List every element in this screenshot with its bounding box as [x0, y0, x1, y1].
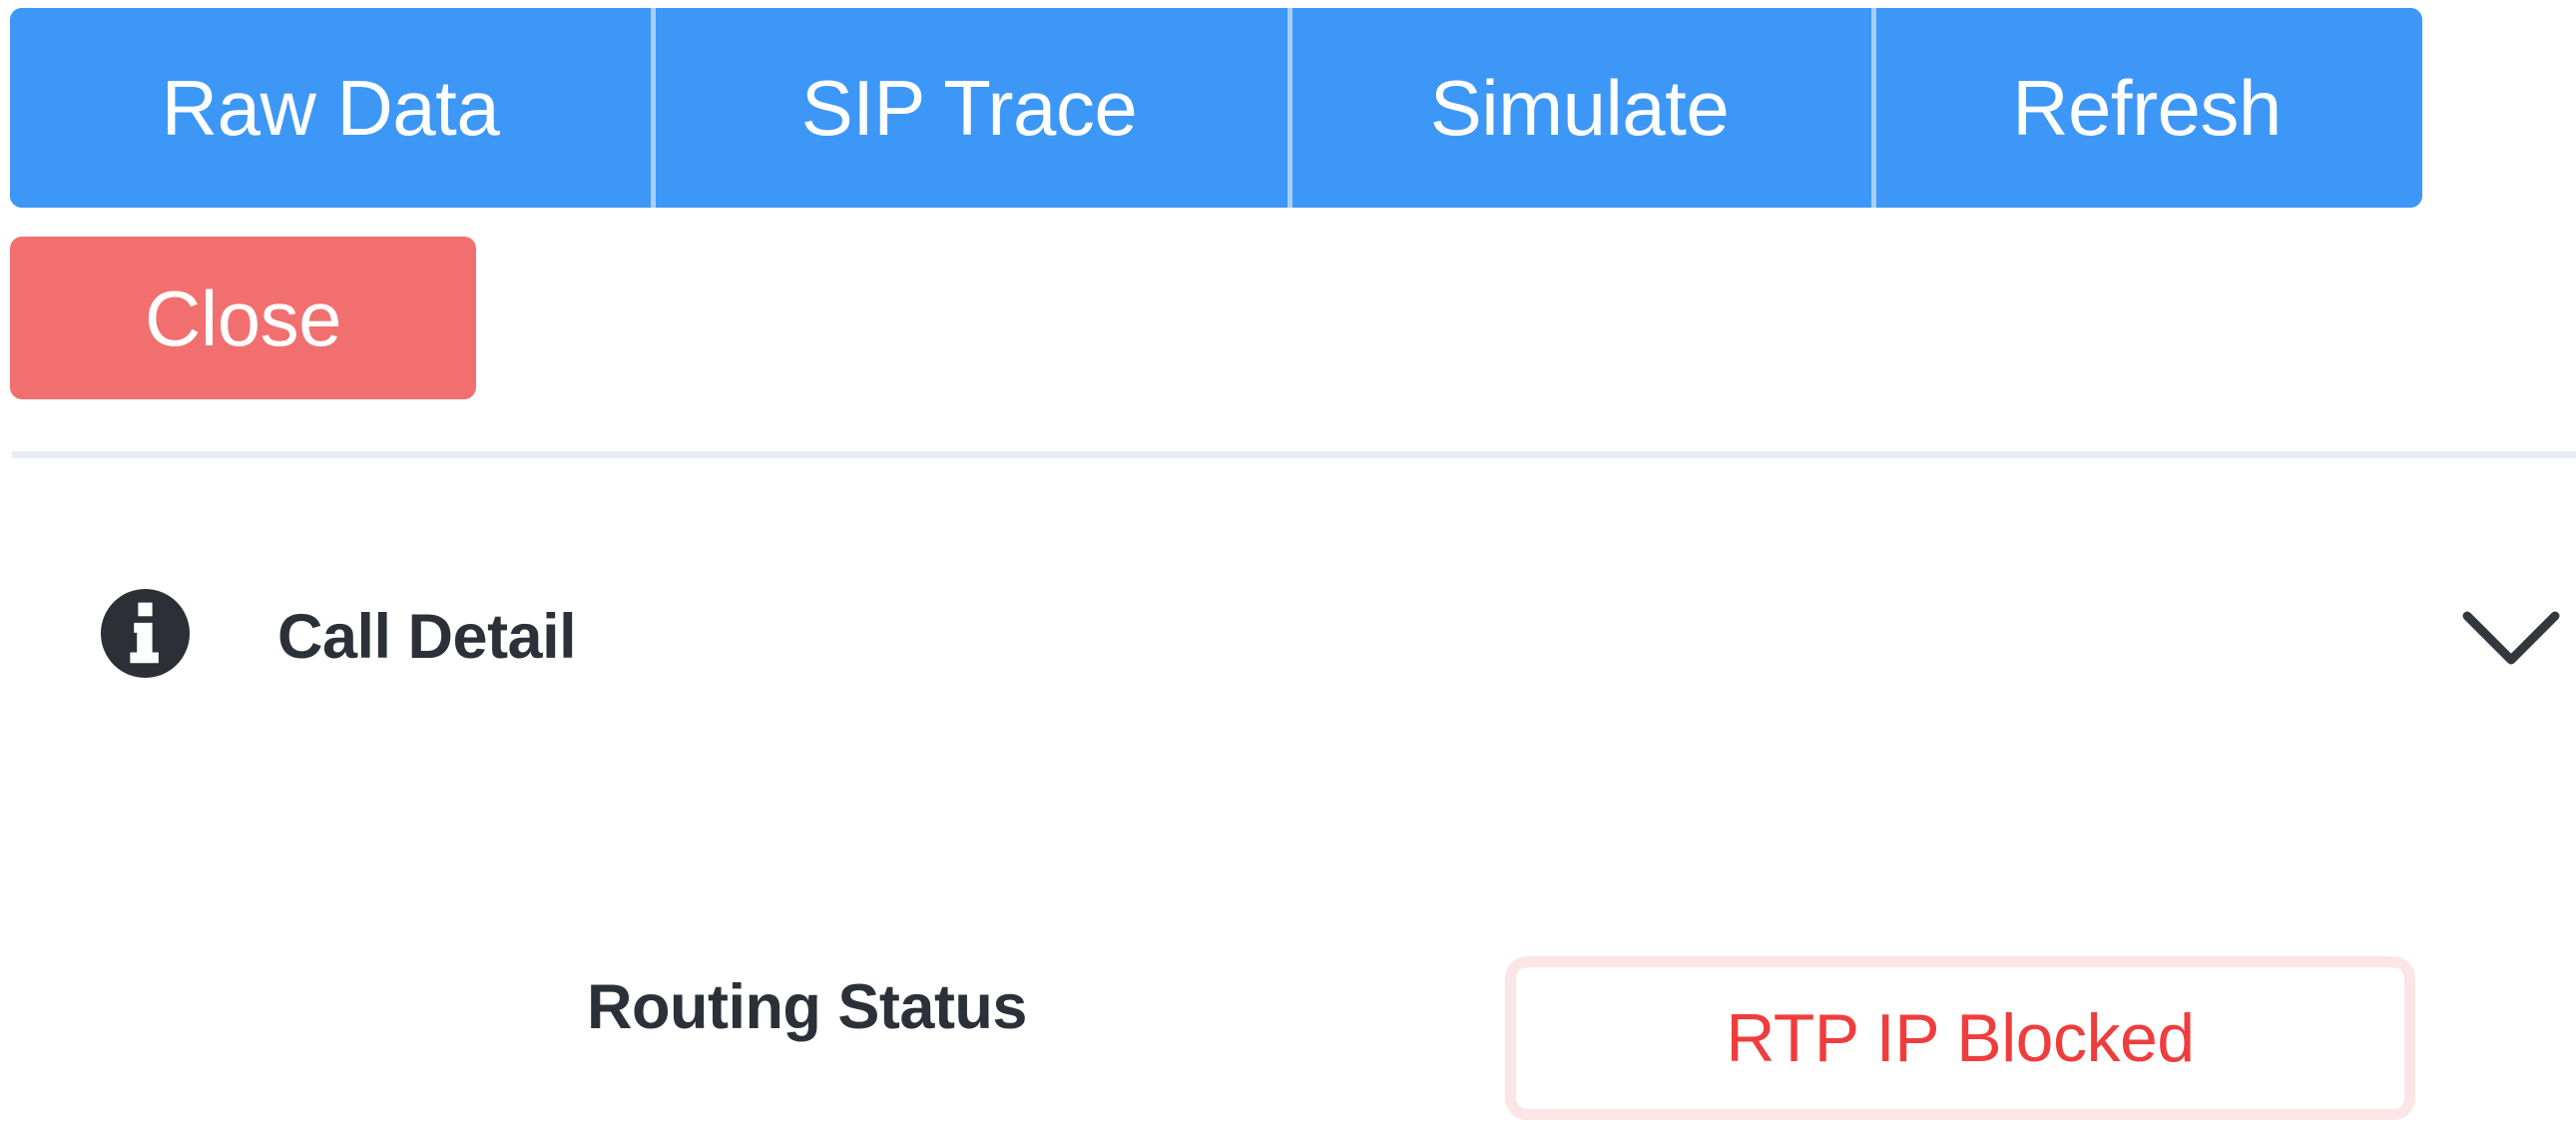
- call-detail-card-header[interactable]: Call Detail: [0, 574, 2576, 699]
- info-circle-icon: [98, 586, 193, 681]
- sip-trace-button[interactable]: SIP Trace: [651, 8, 1288, 208]
- chevron-down-icon[interactable]: [2461, 610, 2561, 668]
- raw-data-button[interactable]: Raw Data: [10, 8, 651, 208]
- close-button[interactable]: Close: [10, 237, 476, 399]
- refresh-button[interactable]: Refresh: [1871, 8, 2422, 208]
- simulate-button[interactable]: Simulate: [1288, 8, 1871, 208]
- call-detail-panel: Raw Data SIP Trace Simulate Refresh Clos…: [0, 0, 2576, 1140]
- status-badge: RTP IP Blocked: [1505, 956, 2415, 1120]
- action-toolbar: Raw Data SIP Trace Simulate Refresh: [10, 8, 2422, 208]
- detail-row-routing-status: Routing Status RTP IP Blocked: [0, 948, 2576, 1140]
- routing-status-label: Routing Status: [587, 948, 1027, 1066]
- section-divider: [12, 451, 2576, 458]
- page-title: Call Detail: [277, 574, 576, 699]
